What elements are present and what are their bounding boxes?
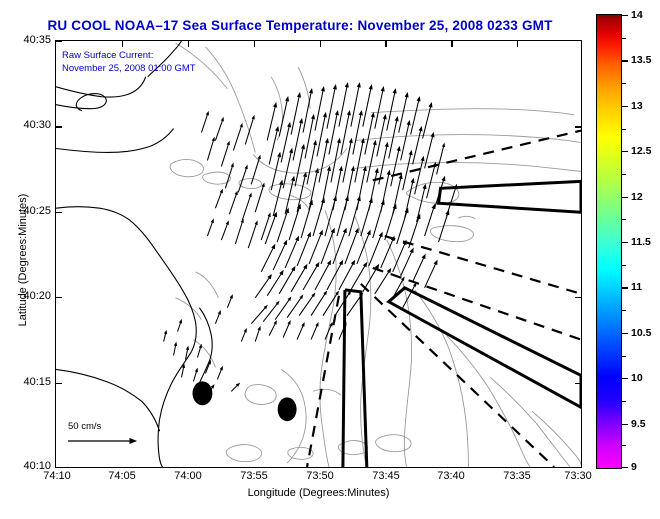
annotation-line-1: Raw Surface Current: (62, 49, 196, 62)
map-canvas (56, 41, 581, 467)
bathymetry-contours (170, 43, 581, 467)
colorbar-minor-tick (622, 445, 626, 446)
scale-legend-label: 50 cm/s (64, 421, 174, 432)
map-plot-area[interactable]: Raw Surface Current: November 25, 2008 0… (55, 40, 582, 468)
colorbar-label: 13.5 (631, 54, 651, 66)
y-tick-right (575, 126, 581, 127)
colorbar-label: 13 (631, 100, 643, 112)
x-axis-title: Longitude (Degrees:Minutes) (55, 487, 582, 499)
colorbar-tick (622, 151, 628, 152)
colorbar-minor-tick (622, 83, 626, 84)
colorbar-tick (622, 378, 628, 379)
colorbar-minor-tick (622, 356, 626, 357)
colorbar-label: 14 (631, 9, 643, 21)
y-tick (56, 126, 62, 127)
colorbar (596, 14, 622, 469)
y-tick-right (575, 383, 581, 384)
y-tick-right (575, 297, 581, 298)
page-title: RU COOL NOAA–17 Sea Surface Temperature:… (0, 18, 600, 33)
x-tick-label: 73:55 (240, 470, 268, 482)
colorbar-minor-tick (622, 265, 626, 266)
colorbar-minor-tick (622, 38, 626, 39)
x-tick-top (122, 41, 123, 47)
colorbar-label: 12 (631, 191, 643, 203)
x-tick-label: 73:40 (437, 470, 465, 482)
colorbar-minor-tick (622, 129, 626, 130)
x-tick-top (320, 41, 321, 47)
y-tick-label: 40:15 (23, 376, 51, 388)
x-tick-label: 73:45 (372, 470, 400, 482)
colorbar-tick (622, 197, 628, 198)
y-axis-title: Latitude (Degrees:Minutes) (17, 160, 29, 360)
coastline (56, 41, 212, 467)
colorbar-tick (622, 333, 628, 334)
y-tick (56, 212, 62, 213)
colorbar-minor-tick (622, 174, 626, 175)
x-tick-top (188, 41, 189, 47)
solid-radial-lanes (343, 181, 581, 467)
current-annotation: Raw Surface Current: November 25, 2008 0… (62, 49, 196, 75)
x-tick-label: 74:05 (108, 470, 136, 482)
x-tick-label: 73:30 (564, 470, 592, 482)
x-tick-top (254, 41, 255, 47)
x-tick-top (385, 41, 386, 47)
y-tick (56, 41, 62, 42)
colorbar-label: 12.5 (631, 145, 651, 157)
x-tick-top (517, 41, 518, 47)
screenshot-root: RU COOL NOAA–17 Sea Surface Temperature:… (0, 0, 660, 519)
colorbar-label: 11 (631, 281, 642, 293)
colorbar-label: 10 (631, 372, 643, 384)
colorbar-label: 10.5 (631, 327, 651, 339)
colorbar-tick (622, 106, 628, 107)
radar-station-markers (192, 381, 296, 421)
y-tick-right (575, 212, 581, 213)
colorbar-tick (622, 287, 628, 288)
x-tick-label: 73:50 (306, 470, 334, 482)
y-tick (56, 297, 62, 298)
x-tick-top (451, 41, 452, 47)
colorbar-minor-tick (622, 310, 626, 311)
colorbar-tick (622, 467, 628, 468)
y-tick-label: 40:10 (23, 460, 51, 472)
colorbar-tick (622, 424, 628, 425)
colorbar-minor-tick (622, 219, 626, 220)
colorbar-label: 9.5 (631, 418, 646, 430)
y-tick (56, 383, 62, 384)
colorbar-tick (622, 242, 628, 243)
y-tick-label: 40:35 (23, 34, 51, 46)
vector-scale-legend: 50 cm/s (64, 421, 174, 453)
y-tick-label: 40:30 (23, 119, 51, 131)
x-tick-label: 74:00 (174, 470, 202, 482)
dashed-radial-lines (307, 131, 581, 467)
colorbar-label: 9 (631, 461, 637, 473)
right-arrow-icon (64, 434, 150, 448)
annotation-line-2: November 25, 2008 01:00 GMT (62, 62, 196, 75)
y-tick (56, 467, 62, 468)
colorbar-tick (622, 60, 628, 61)
colorbar-minor-tick (622, 401, 626, 402)
colorbar-tick (622, 15, 628, 16)
colorbar-label: 11.5 (631, 236, 651, 248)
x-tick-label: 73:35 (503, 470, 531, 482)
